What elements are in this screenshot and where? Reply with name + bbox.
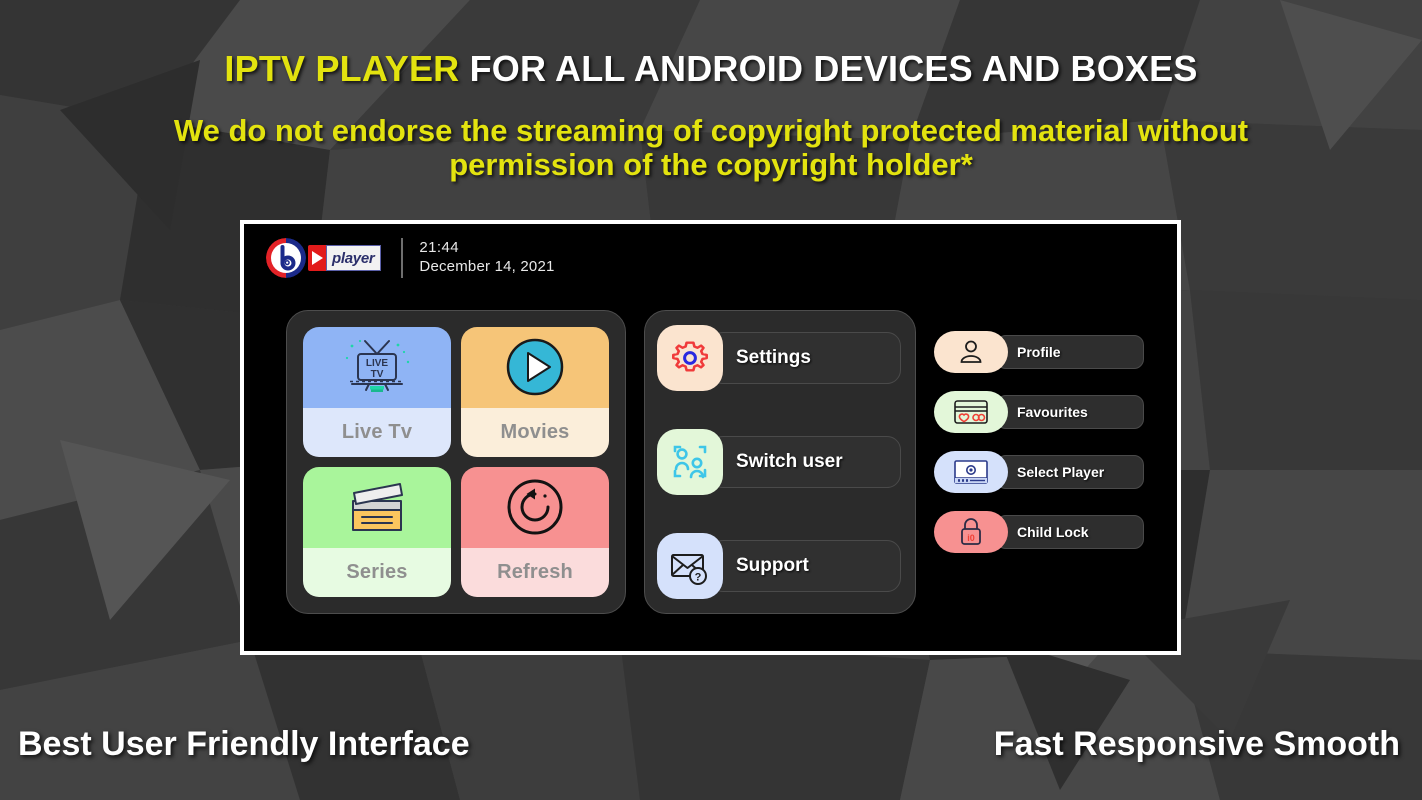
promo-banner: IPTV PLAYER FOR ALL ANDROID DEVICES AND …	[0, 0, 1422, 800]
side-item-label[interactable]: Select Player	[996, 455, 1144, 489]
tile-series[interactable]: Series	[303, 467, 451, 597]
refresh-icon	[461, 467, 609, 548]
svg-text:?: ?	[695, 571, 702, 583]
action-label[interactable]: Switch user	[709, 436, 901, 488]
app-topbar: player 21:44 December 14, 2021	[266, 234, 555, 282]
clapperboard-icon	[303, 467, 451, 548]
app-screenshot-frame: player 21:44 December 14, 2021	[240, 220, 1181, 655]
caption-right: Fast Responsive Smooth	[994, 725, 1400, 764]
video-player-icon	[934, 451, 1008, 493]
clock-date: December 14, 2021	[419, 258, 554, 277]
topbar-divider	[401, 238, 403, 278]
gear-icon	[657, 325, 723, 391]
clock-block: 21:44 December 14, 2021	[419, 239, 554, 277]
side-item-label[interactable]: Child Lock	[996, 515, 1144, 549]
side-item-profile[interactable]: Profile	[934, 330, 1144, 374]
side-item-favourites[interactable]: Favourites	[934, 390, 1144, 434]
clock-time: 21:44	[419, 239, 554, 258]
svg-text:TV: TV	[371, 369, 384, 380]
live-tv-icon: LIVE TV	[303, 327, 451, 408]
action-support[interactable]: ? Support	[657, 533, 901, 599]
tile-label: Series	[303, 548, 451, 597]
side-item-label[interactable]: Profile	[996, 335, 1144, 369]
headline-brand: IPTV PLAYER	[224, 48, 459, 89]
mail-help-icon: ?	[657, 533, 723, 599]
svg-text:i0: i0	[967, 533, 975, 543]
player-word: player	[326, 245, 381, 271]
tile-label: Refresh	[461, 548, 609, 597]
app-main-panels: LIVE TV Live Tv	[286, 310, 1146, 622]
action-settings[interactable]: Settings	[657, 325, 901, 391]
tile-label: Live Tv	[303, 408, 451, 457]
headline-rest: FOR ALL ANDROID DEVICES AND BOXES	[470, 48, 1198, 89]
tile-refresh[interactable]: Refresh	[461, 467, 609, 597]
tile-live-tv[interactable]: LIVE TV Live Tv	[303, 327, 451, 457]
tile-label: Movies	[461, 408, 609, 457]
action-label[interactable]: Settings	[709, 332, 901, 384]
headline-block: IPTV PLAYER FOR ALL ANDROID DEVICES AND …	[0, 48, 1422, 90]
player-badge: player	[308, 245, 381, 271]
action-label[interactable]: Support	[709, 540, 901, 592]
padlock-icon: i0	[934, 511, 1008, 553]
side-item-child-lock[interactable]: i0 Child Lock	[934, 510, 1144, 554]
caption-left: Best User Friendly Interface	[18, 725, 470, 764]
side-item-select-player[interactable]: Select Player	[934, 450, 1144, 494]
side-items-column: Profile Favour	[934, 310, 1144, 614]
b-logo-icon	[266, 238, 306, 278]
disclaimer-text: We do not endorse the streaming of copyr…	[90, 114, 1332, 182]
svg-text:LIVE: LIVE	[366, 358, 389, 369]
person-icon	[934, 331, 1008, 373]
play-triangle-icon	[308, 245, 326, 271]
headline: IPTV PLAYER FOR ALL ANDROID DEVICES AND …	[0, 48, 1422, 90]
favourites-card-icon	[934, 391, 1008, 433]
side-item-label[interactable]: Favourites	[996, 395, 1144, 429]
tile-movies[interactable]: Movies	[461, 327, 609, 457]
action-switch-user[interactable]: Switch user	[657, 429, 901, 495]
app-logo: player	[266, 238, 381, 278]
primary-tiles-panel: LIVE TV Live Tv	[286, 310, 626, 614]
disclaimer-block: We do not endorse the streaming of copyr…	[0, 114, 1422, 182]
play-circle-icon	[461, 327, 609, 408]
switch-user-icon	[657, 429, 723, 495]
actions-panel: Settings	[644, 310, 916, 614]
